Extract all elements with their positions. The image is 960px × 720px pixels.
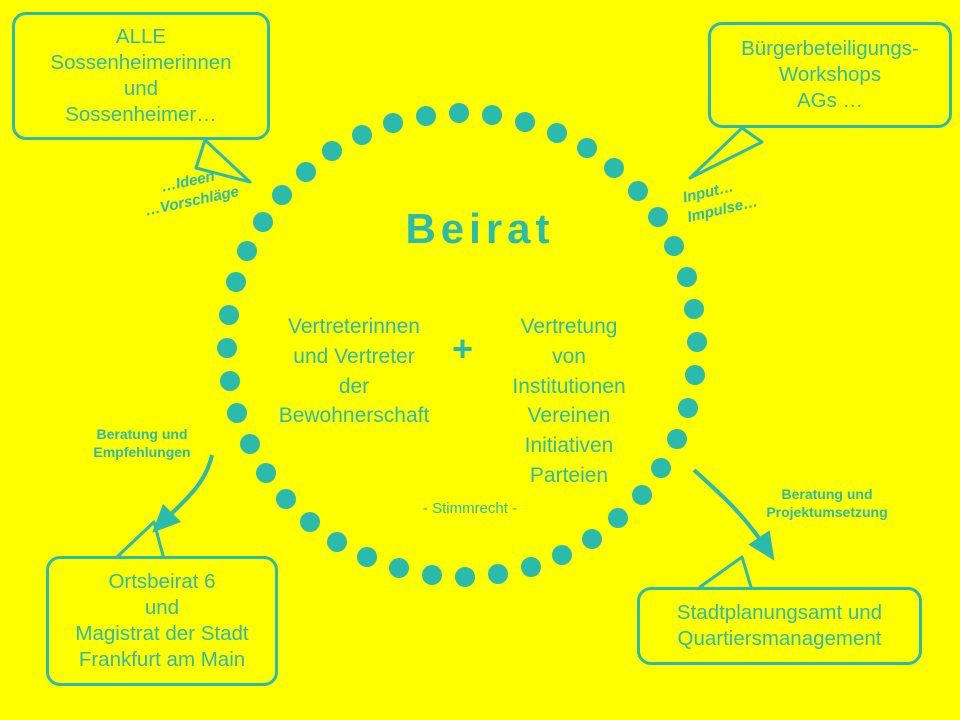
ring-dot bbox=[684, 299, 704, 319]
callout-buerger-text: Bürgerbeteiligungs- Workshops AGs … bbox=[741, 36, 919, 115]
ring-dot bbox=[389, 558, 409, 578]
ring-dot bbox=[272, 185, 292, 205]
ring-dot bbox=[357, 547, 377, 567]
ring-dot bbox=[488, 564, 508, 584]
ring-dot bbox=[628, 181, 648, 201]
callout-ortsbeirat[interactable]: Ortsbeirat 6 und Magistrat der Stadt Fra… bbox=[46, 556, 278, 686]
label-beratung-empfehlungen: Beratung und Empfehlungen bbox=[72, 425, 212, 461]
ring-dot bbox=[226, 272, 246, 292]
ring-dot bbox=[455, 567, 475, 587]
callout-stadtplanung-text: Stadtplanungsamt und Quartiersmanagement bbox=[677, 600, 882, 652]
ring-dot bbox=[422, 565, 442, 585]
ring-dot bbox=[220, 371, 240, 391]
ring-dot bbox=[577, 138, 597, 158]
ring-dot bbox=[685, 365, 705, 385]
ring-dot bbox=[678, 398, 698, 418]
ring-dot bbox=[322, 141, 342, 161]
callout-ortsbeirat-text: Ortsbeirat 6 und Magistrat der Stadt Fra… bbox=[75, 569, 248, 674]
member-group-residents: Vertreterinnen und Vertreter der Bewohne… bbox=[268, 312, 440, 431]
callout-alle-text: ALLE Sossenheimerinnen und Sossenheimer… bbox=[50, 24, 231, 129]
ring-dot bbox=[416, 106, 436, 126]
ring-dot bbox=[219, 305, 239, 325]
ring-dot bbox=[296, 162, 316, 182]
ring-dot bbox=[217, 338, 237, 358]
ring-dot bbox=[276, 489, 296, 509]
diagram-canvas: ALLE Sossenheimerinnen und Sossenheimer…… bbox=[0, 0, 960, 720]
ring-dot bbox=[515, 112, 535, 132]
ring-dot bbox=[547, 123, 567, 143]
callout-buergerbeteiligung[interactable]: Bürgerbeteiligungs- Workshops AGs … bbox=[708, 22, 952, 128]
ring-dot bbox=[667, 429, 687, 449]
tail-buerger bbox=[690, 128, 762, 178]
ring-dot bbox=[449, 103, 469, 123]
ring-dot bbox=[604, 158, 624, 178]
ring-dot bbox=[521, 557, 541, 577]
ring-dot bbox=[687, 332, 707, 352]
member-group-institutions: Vertretung von Institutionen Vereinen In… bbox=[480, 312, 658, 491]
ring-dot bbox=[227, 403, 247, 423]
ring-dot bbox=[552, 545, 572, 565]
ring-dot bbox=[256, 463, 276, 483]
callout-alle-sossenheimer[interactable]: ALLE Sossenheimerinnen und Sossenheimer… bbox=[12, 12, 270, 140]
callout-stadtplanungsamt[interactable]: Stadtplanungsamt und Quartiersmanagement bbox=[637, 587, 922, 665]
ring-dot bbox=[327, 532, 347, 552]
ring-dot bbox=[582, 529, 602, 549]
ring-dot bbox=[608, 508, 628, 528]
ring-dot bbox=[352, 125, 372, 145]
voting-rights-note: - Stimmrecht - bbox=[380, 500, 560, 517]
arrow-beratung-empfehlungen bbox=[163, 455, 212, 522]
ring-dot bbox=[482, 105, 502, 125]
ring-dot bbox=[677, 267, 697, 287]
plus-icon: + bbox=[452, 328, 473, 370]
ring-dot bbox=[383, 113, 403, 133]
label-beratung-projektumsetzung: Beratung und Projektumsetzung bbox=[742, 485, 912, 521]
ring-dot bbox=[240, 434, 260, 454]
ring-dot bbox=[300, 512, 320, 532]
